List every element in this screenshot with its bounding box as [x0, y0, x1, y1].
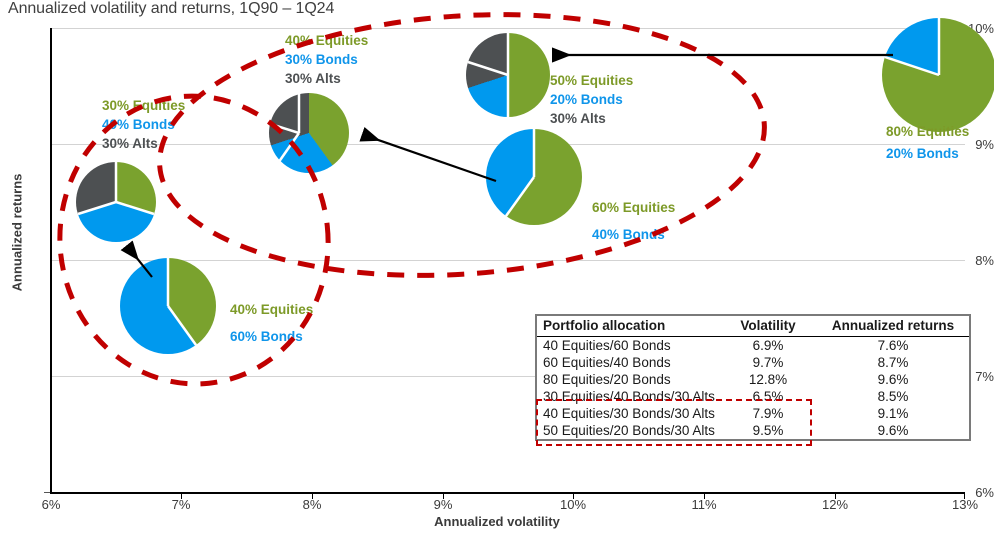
cell-volatility: 9.7% — [719, 354, 815, 371]
label-30eq-equities: 30% Equities — [102, 96, 185, 116]
label-50eq-bonds: 20% Bonds — [550, 90, 623, 110]
cell-volatility: 9.5% — [719, 422, 815, 439]
x-tick-label-12: 12% — [810, 497, 860, 512]
y-axis-title: Annualized returns — [10, 138, 25, 328]
x-axis-title: Annualized volatility — [0, 514, 994, 529]
label-4060-equities: 40% Equities — [230, 300, 313, 320]
x-tick-label-9: 9% — [418, 497, 468, 512]
table-row: 40 Equities/60 Bonds 6.9% 7.6% — [537, 337, 969, 355]
table-row: 60 Equities/40 Bonds 9.7% 8.7% — [537, 354, 969, 371]
cell-allocation: 30 Equities/40 Bonds/30 Alts — [537, 388, 719, 405]
cell-volatility: 7.9% — [719, 405, 815, 422]
arrow-60-to-40 — [364, 135, 496, 181]
label-8020-bonds: 20% Bonds — [886, 144, 959, 164]
cell-returns: 9.6% — [815, 422, 969, 439]
pie-40-60 — [120, 258, 216, 354]
col-header-volatility: Volatility — [719, 316, 815, 337]
pie-50-20-30 — [466, 33, 550, 117]
y-axis-line — [50, 28, 52, 494]
col-header-allocation: Portfolio allocation — [537, 316, 719, 337]
cell-returns: 9.6% — [815, 371, 969, 388]
gridline-8 — [52, 260, 965, 261]
pie-30-40-30 — [76, 162, 156, 242]
cell-allocation: 80 Equities/20 Bonds — [537, 371, 719, 388]
x-tick-label-13: 13% — [940, 497, 990, 512]
cell-volatility: 6.5% — [719, 388, 815, 405]
pie-80-20 — [882, 18, 994, 132]
x-tick-label-7: 7% — [156, 497, 206, 512]
table-header-row: Portfolio allocation Volatility Annualiz… — [537, 316, 969, 337]
cell-allocation: 40 Equities/30 Bonds/30 Alts — [537, 405, 719, 422]
cell-allocation: 40 Equities/60 Bonds — [537, 337, 719, 355]
table-row: 40 Equities/30 Bonds/30 Alts 7.9% 9.1% — [537, 405, 969, 422]
pie-40-30-30 — [269, 93, 349, 173]
page-title: Annualized volatility and returns, 1Q90 … — [8, 0, 334, 18]
x-tick-label-6: 6% — [26, 497, 76, 512]
cell-returns: 7.6% — [815, 337, 969, 355]
gridline-10 — [52, 28, 965, 29]
x-tick-mark-11 — [704, 494, 705, 499]
col-header-returns: Annualized returns — [815, 316, 969, 337]
label-4060-bonds: 60% Bonds — [230, 327, 303, 347]
cell-returns: 8.5% — [815, 388, 969, 405]
y-tick-label-8: 8% — [952, 253, 994, 268]
table-row: 30 Equities/40 Bonds/30 Alts 6.5% 8.5% — [537, 388, 969, 405]
y-tick-mark-6 — [44, 492, 50, 493]
x-axis-line — [50, 492, 965, 494]
x-tick-mark-8 — [312, 494, 313, 499]
chart-root: Annualized volatility and returns, 1Q90 … — [0, 0, 994, 537]
label-40eq-alts: 30% Alts — [285, 69, 341, 89]
x-tick-label-10: 10% — [548, 497, 598, 512]
label-30eq-bonds: 40% Bonds — [102, 115, 175, 135]
x-tick-mark-9 — [443, 494, 444, 499]
x-tick-label-8: 8% — [287, 497, 337, 512]
label-40eq-bonds: 30% Bonds — [285, 50, 358, 70]
x-tick-mark-7 — [181, 494, 182, 499]
x-tick-label-11: 11% — [679, 497, 729, 512]
pie-60-40 — [486, 129, 582, 225]
cell-allocation: 60 Equities/40 Bonds — [537, 354, 719, 371]
label-8020-equities: 80% Equities — [886, 122, 969, 142]
x-tick-mark-10 — [573, 494, 574, 499]
label-40eq-equities: 40% Equities — [285, 31, 368, 51]
x-tick-mark-13 — [964, 494, 965, 499]
cell-volatility: 6.9% — [719, 337, 815, 355]
cell-volatility: 12.8% — [719, 371, 815, 388]
label-50eq-alts: 30% Alts — [550, 109, 606, 129]
x-tick-mark-12 — [835, 494, 836, 499]
label-6040-equities: 60% Equities — [592, 198, 675, 218]
label-50eq-equities: 50% Equities — [550, 71, 633, 91]
label-30eq-alts: 30% Alts — [102, 134, 158, 154]
cell-returns: 8.7% — [815, 354, 969, 371]
cell-allocation: 50 Equities/20 Bonds/30 Alts — [537, 422, 719, 439]
cell-returns: 9.1% — [815, 405, 969, 422]
table-row: 80 Equities/20 Bonds 12.8% 9.6% — [537, 371, 969, 388]
highlight-ellipse-main — [151, 0, 774, 295]
table-row: 50 Equities/20 Bonds/30 Alts 9.5% 9.6% — [537, 422, 969, 439]
portfolio-allocation-table: Portfolio allocation Volatility Annualiz… — [535, 314, 971, 441]
label-6040-bonds: 40% Bonds — [592, 225, 665, 245]
